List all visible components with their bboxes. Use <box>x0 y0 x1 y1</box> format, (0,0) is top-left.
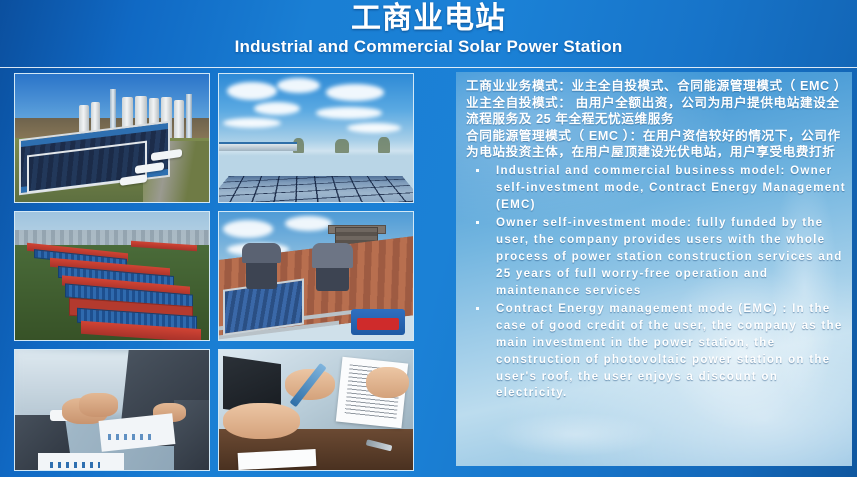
page-title-en: Industrial and Commercial Solar Power St… <box>0 36 857 58</box>
photo-workers-installing-roof-panels <box>218 211 414 341</box>
photo-contract-signing <box>218 349 414 471</box>
bullet-text: Owner self-investment mode: fully funded… <box>496 216 843 296</box>
photo-grid <box>14 73 414 469</box>
photo-business-handshake <box>14 349 210 471</box>
bullet-dot-icon <box>476 221 479 224</box>
photo-red-roof-factories-solar <box>14 211 210 341</box>
bullet-dot-icon <box>476 307 479 310</box>
chinese-description: 工商业业务模式：业主全自投模式、合同能源管理模式（ EMC ） 业主全自投模式：… <box>462 77 848 161</box>
page-title-cn: 工商业电站 <box>0 2 857 36</box>
slide-header: 工商业电站 Industrial and Commercial Solar Po… <box>0 0 857 68</box>
bullet-text: Industrial and commercial business model… <box>496 164 846 211</box>
list-item: Owner self-investment mode: fully funded… <box>466 215 846 299</box>
cn-paragraph-1: 工商业业务模式：业主全自投模式、合同能源管理模式（ EMC ） <box>466 78 846 95</box>
cn-paragraph-3: 合同能源管理模式（ EMC ）：在用户资信较好的情况下，公司作为电站投资主体，在… <box>466 128 846 161</box>
english-bullet-list: Industrial and commercial business model… <box>462 163 848 402</box>
cn-paragraph-2: 业主全自投模式： 由用户全额出资，公司为用户提供电站建设全流程服务及 25 年全… <box>466 95 846 128</box>
slide-root: 工商业电站 Industrial and Commercial Solar Po… <box>0 0 857 477</box>
bullet-text: Contract Energy management mode (EMC) : … <box>496 302 843 399</box>
description-panel: 工商业业务模式：业主全自投模式、合同能源管理模式（ EMC ） 业主全自投模式：… <box>456 72 852 466</box>
photo-aerial-industrial-plant-solar-roof <box>14 73 210 203</box>
list-item: Contract Energy management mode (EMC) : … <box>466 301 846 402</box>
photo-flat-rooftop-solar-array <box>218 73 414 203</box>
header-divider <box>0 67 857 68</box>
panel-body: 工商业业务模式：业主全自投模式、合同能源管理模式（ EMC ） 业主全自投模式：… <box>462 77 848 402</box>
list-item: Industrial and commercial business model… <box>466 163 846 213</box>
bullet-dot-icon <box>476 169 479 172</box>
